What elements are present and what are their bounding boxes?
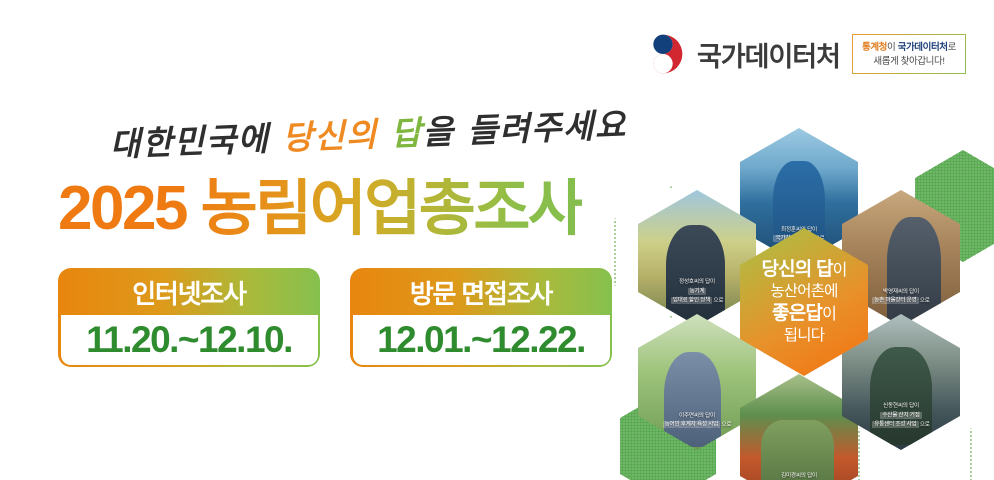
visit-survey-heading: 방문 면접조사 — [353, 271, 610, 315]
internet-survey-heading: 인터넷조사 — [61, 271, 318, 315]
badge-particle: 이 — [887, 42, 898, 53]
caption-greenhouse-farmer-line-2: 농어민 후계자 육성 사업 — [663, 421, 721, 428]
caption-rice-farmer-line-4: 으로 — [713, 298, 723, 304]
caption-greenhouse-farmer-line-3: 으로 — [721, 422, 731, 428]
center-message-line-1: 당신의 답이 — [761, 258, 846, 282]
page-title: 2025 농림어업총조사 — [58, 178, 582, 240]
center-message-line-2: 농산어촌에 — [770, 282, 837, 302]
center-message-line-3: 좋은답이 — [772, 302, 836, 326]
caption-family-line-1: 김미경씨의 답이 — [747, 472, 851, 480]
handwritten-tagline: 대한민국에 당신의 답을 들려주세요 — [109, 98, 627, 166]
tagline-part-1: 대한민국에 — [109, 118, 283, 164]
caption-rice-farmer-line-3: 임대료 할인 정책 — [671, 297, 712, 304]
caption-village-market-line-2: 농촌 마을장터 운영 — [872, 297, 918, 304]
badge-new-name: 국가데이터처 — [898, 42, 948, 53]
korea-government-taegeuk-emblem — [641, 32, 685, 76]
caption-senior-fisherman-line-1: 신동현씨의 답이 — [849, 402, 953, 411]
rebrand-notice-badge: 통계청이 국가데이터처로 새롭게 찾아갑니다! — [852, 34, 966, 75]
center-message-line-3-strong: 좋은답 — [772, 303, 822, 324]
photo-family-with-bicycle — [740, 374, 858, 480]
caption-rice-farmer-line-1: 정성호씨의 답이 — [645, 278, 749, 287]
tagline-part-3: 답 — [390, 113, 423, 153]
internet-survey-dates: 11.20.~12.10. — [61, 315, 318, 365]
caption-senior-fisherman-line-4: 으로 — [920, 422, 930, 428]
caption-family: 김미경씨의 답이 농촌 행복 나눔 사업 으로 — [740, 472, 858, 480]
badge-line-2: 새롭게 찾아갑니다! — [862, 55, 956, 69]
badge-stat-office: 통계청 — [862, 42, 887, 53]
caption-rice-farmer-line-2: 농기계 — [688, 288, 707, 295]
visit-survey-card[interactable]: 방문 면접조사 12.01.~12.22. — [350, 268, 612, 367]
center-message-line-1-suffix: 이 — [833, 262, 847, 279]
logo-wordmark: 국가데이터처 — [697, 35, 840, 74]
internet-survey-card[interactable]: 인터넷조사 11.20.~12.10. — [58, 268, 320, 367]
visit-survey-dates: 12.01.~12.22. — [353, 315, 610, 365]
survey-period-cards: 인터넷조사 11.20.~12.10. 방문 면접조사 12.01.~12.22… — [58, 268, 612, 367]
caption-senior-fisherman-line-3: 유통센터 조성 사업 — [872, 421, 918, 428]
badge-line-1: 통계청이 국가데이터처로 — [862, 41, 956, 55]
caption-village-market-line-3: 으로 — [920, 298, 930, 304]
brand-header: 국가데이터처 통계청이 국가데이터처로 새롭게 찾아갑니다! — [641, 32, 966, 76]
center-message-line-4: 됩니다 — [784, 326, 824, 346]
hexagon-photo-family[interactable]: 김미경씨의 답이 농촌 행복 나눔 사업 으로 — [740, 374, 858, 480]
caption-senior-fisherman: 신동현씨의 답이 수산물 산지 거점 유통센터 조성 사업 으로 — [842, 402, 960, 430]
tagline-part-4: 을 들려주세요 — [422, 105, 628, 152]
center-message-line-3-suffix: 이 — [822, 306, 836, 323]
survey-banner: 국가데이터처 통계청이 국가데이터처로 새롭게 찾아갑니다! 대한민국에 당신의… — [0, 0, 994, 480]
hexagon-photo-cluster: 최정훈씨의 답이 국가간 어업협정 으로 정성호씨의 답이 농기계 임대료 할인… — [620, 128, 994, 480]
caption-rice-farmer: 정성호씨의 답이 농기계 임대료 할인 정책 으로 — [638, 278, 756, 306]
caption-senior-fisherman-line-2: 수산물 산지 거점 — [880, 412, 921, 419]
center-message-line-1-strong: 당신의 답 — [761, 259, 832, 280]
tagline-part-2: 당신의 — [282, 114, 392, 157]
caption-greenhouse-farmer-line-1: 이주연씨의 답이 — [645, 412, 749, 421]
badge-particle-2: 로 — [948, 42, 956, 53]
